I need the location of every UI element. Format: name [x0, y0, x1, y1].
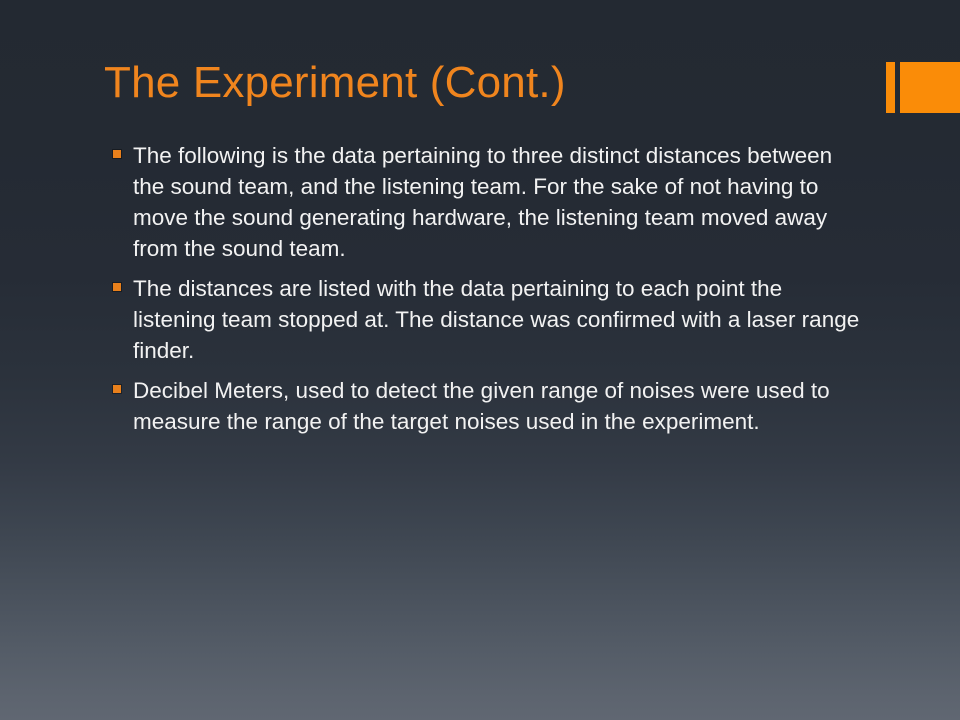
bullet-item-text: Decibel Meters, used to detect the given… [133, 375, 865, 437]
bullet-item: The distances are listed with the data p… [113, 273, 865, 366]
bullet-item: The following is the data pertaining to … [113, 140, 865, 264]
square-bullet-icon [113, 385, 121, 393]
bullet-item-text: The distances are listed with the data p… [133, 273, 865, 366]
presentation-slide: The Experiment (Cont.) The following is … [0, 0, 960, 720]
accent-block-bar-icon [900, 62, 960, 113]
bullet-item: Decibel Meters, used to detect the given… [113, 375, 865, 437]
bullet-item-text: The following is the data pertaining to … [133, 140, 865, 264]
title-accent-decoration [886, 62, 960, 113]
square-bullet-icon [113, 150, 121, 158]
square-bullet-icon [113, 283, 121, 291]
body-content-placeholder: The following is the data pertaining to … [113, 140, 865, 437]
page-title: The Experiment (Cont.) [104, 54, 864, 112]
title-placeholder: The Experiment (Cont.) [104, 54, 864, 120]
accent-thin-bar-icon [886, 62, 895, 113]
